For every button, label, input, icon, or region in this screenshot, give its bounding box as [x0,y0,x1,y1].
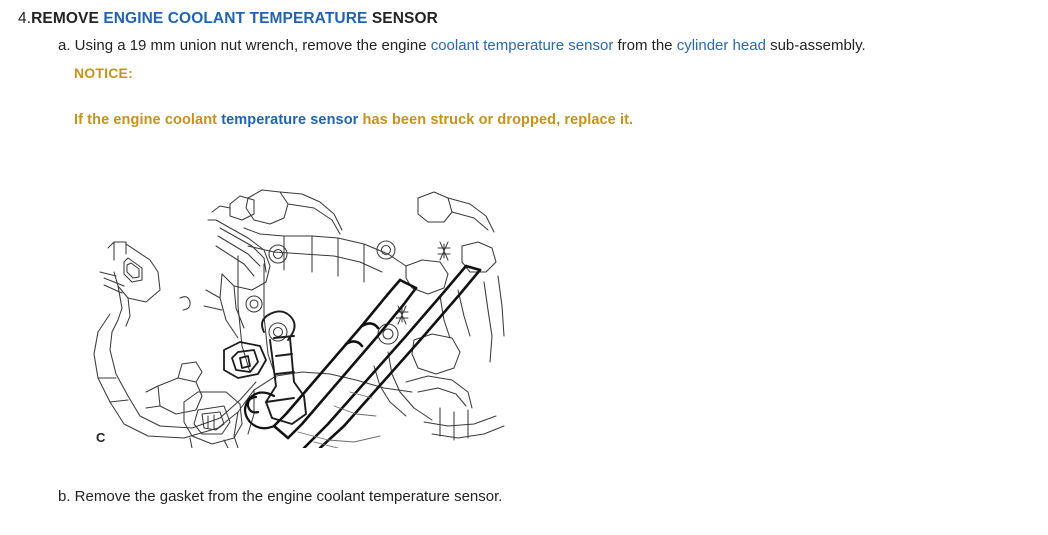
manual-page: 4.REMOVE ENGINE COOLANT TEMPERATURE SENS… [0,0,1048,535]
notice-body: If the engine coolant temperature sensor… [74,111,633,129]
notice-text-before: If the engine coolant [74,112,221,128]
clip-detail [180,297,190,310]
step-title-highlight: ENGINE COOLANT TEMPERATURE [103,10,367,27]
step-title-remove: REMOVE [31,10,103,27]
substep-b-text: Remove the gasket from the engine coolan… [71,488,503,505]
notice-label: NOTICE: [74,64,133,82]
notice-text-after: has been struck or dropped, replace it. [358,112,633,128]
union-nut-wrench [274,266,480,448]
substep-a-text-middle: from the [613,37,676,54]
lower-left-bracket [146,362,202,414]
coolant-temperature-sensor [262,311,306,424]
engine-illustration [88,186,508,448]
valve-cover-detail [204,196,270,338]
step-heading: 4.REMOVE ENGINE COOLANT TEMPERATURE SENS… [18,9,438,28]
substep-a: a. Using a 19 mm union nut wrench, remov… [58,36,866,55]
substep-a-text-after: sub-assembly. [766,37,866,54]
left-bracket-group [94,242,160,424]
link-coolant-temperature-sensor[interactable]: coolant temperature sensor [431,37,614,54]
sensor-hex-nut [224,342,266,378]
notice-highlight-temperature-sensor[interactable]: temperature sensor [221,112,358,128]
substep-b: b. Remove the gasket from the engine coo… [58,487,502,506]
step-title-sensor: SENSOR [367,10,437,27]
substep-b-marker: b. [58,488,71,505]
step-number: 4. [18,10,31,27]
substep-a-marker: a. [58,37,71,54]
figure-label-c: C [96,430,105,445]
link-cylinder-head[interactable]: cylinder head [677,37,766,54]
bolt-bosses [246,241,398,344]
substep-a-text-before: Using a 19 mm union nut wrench, remove t… [71,37,431,54]
